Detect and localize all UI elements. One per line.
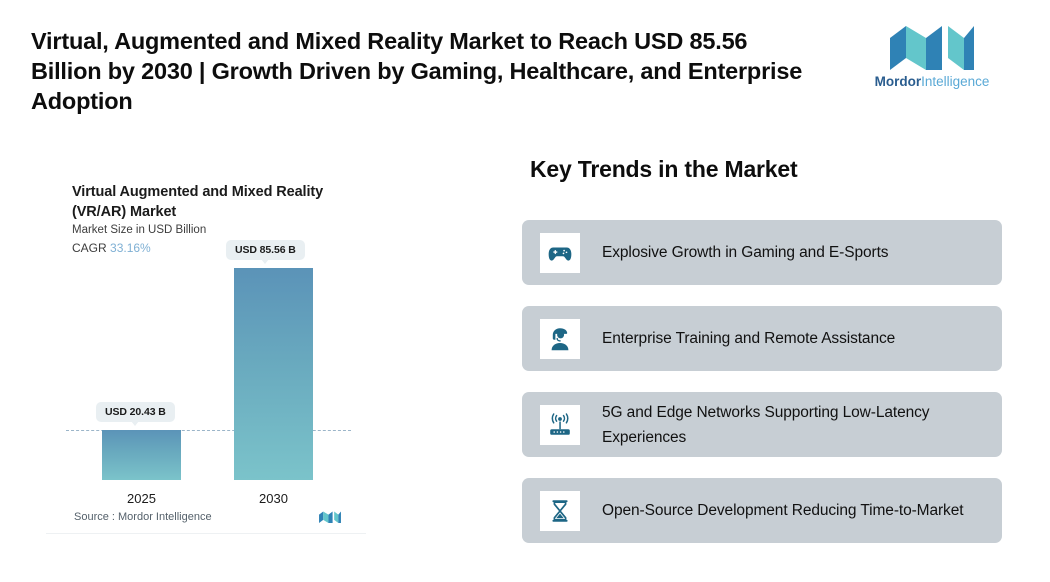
bar-value-label-2025: USD 20.43 B (96, 402, 175, 422)
key-trends-list: Explosive Growth in Gaming and E-Sports … (522, 220, 1002, 564)
trend-label: 5G and Edge Networks Supporting Low-Late… (602, 400, 986, 450)
trend-label: Open-Source Development Reducing Time-to… (602, 498, 986, 523)
wireless-router-icon (540, 405, 580, 445)
x-axis-tick-2025: 2025 (102, 491, 181, 506)
headset-support-icon (540, 319, 580, 359)
gamepad-icon (540, 233, 580, 273)
brand-logo-text: MordorIntelligence (872, 74, 992, 89)
page-header: Virtual, Augmented and Mixed Reality Mar… (0, 0, 1050, 128)
x-axis-tick-2030: 2030 (234, 491, 313, 506)
key-trends-heading: Key Trends in the Market (530, 156, 797, 183)
bar-2025 (102, 430, 181, 480)
brand-logo: MordorIntelligence (872, 24, 992, 94)
trend-card-gaming[interactable]: Explosive Growth in Gaming and E-Sports (522, 220, 1002, 285)
bar-chart-plot: USD 20.43 B USD 85.56 B 2025 2030 (46, 150, 366, 534)
trend-card-enterprise-training[interactable]: Enterprise Training and Remote Assistanc… (522, 306, 1002, 371)
trend-label: Explosive Growth in Gaming and E-Sports (602, 240, 986, 265)
brand-name-light: Intelligence (921, 74, 989, 89)
mordor-logo-mark (886, 24, 978, 70)
bar-value-label-2030: USD 85.56 B (226, 240, 305, 260)
trend-card-open-source[interactable]: Open-Source Development Reducing Time-to… (522, 478, 1002, 543)
chart-panel: Virtual Augmented and Mixed Reality (VR/… (46, 150, 366, 534)
chart-source-text: Source : Mordor Intelligence (74, 511, 212, 523)
chart-source-logo-icon (318, 510, 342, 524)
bar-2030 (234, 268, 313, 480)
page-title: Virtual, Augmented and Mixed Reality Mar… (31, 26, 821, 116)
trend-card-5g-edge[interactable]: 5G and Edge Networks Supporting Low-Late… (522, 392, 1002, 457)
hourglass-icon (540, 491, 580, 531)
trend-label: Enterprise Training and Remote Assistanc… (602, 326, 986, 351)
brand-name-bold: Mordor (875, 74, 922, 89)
